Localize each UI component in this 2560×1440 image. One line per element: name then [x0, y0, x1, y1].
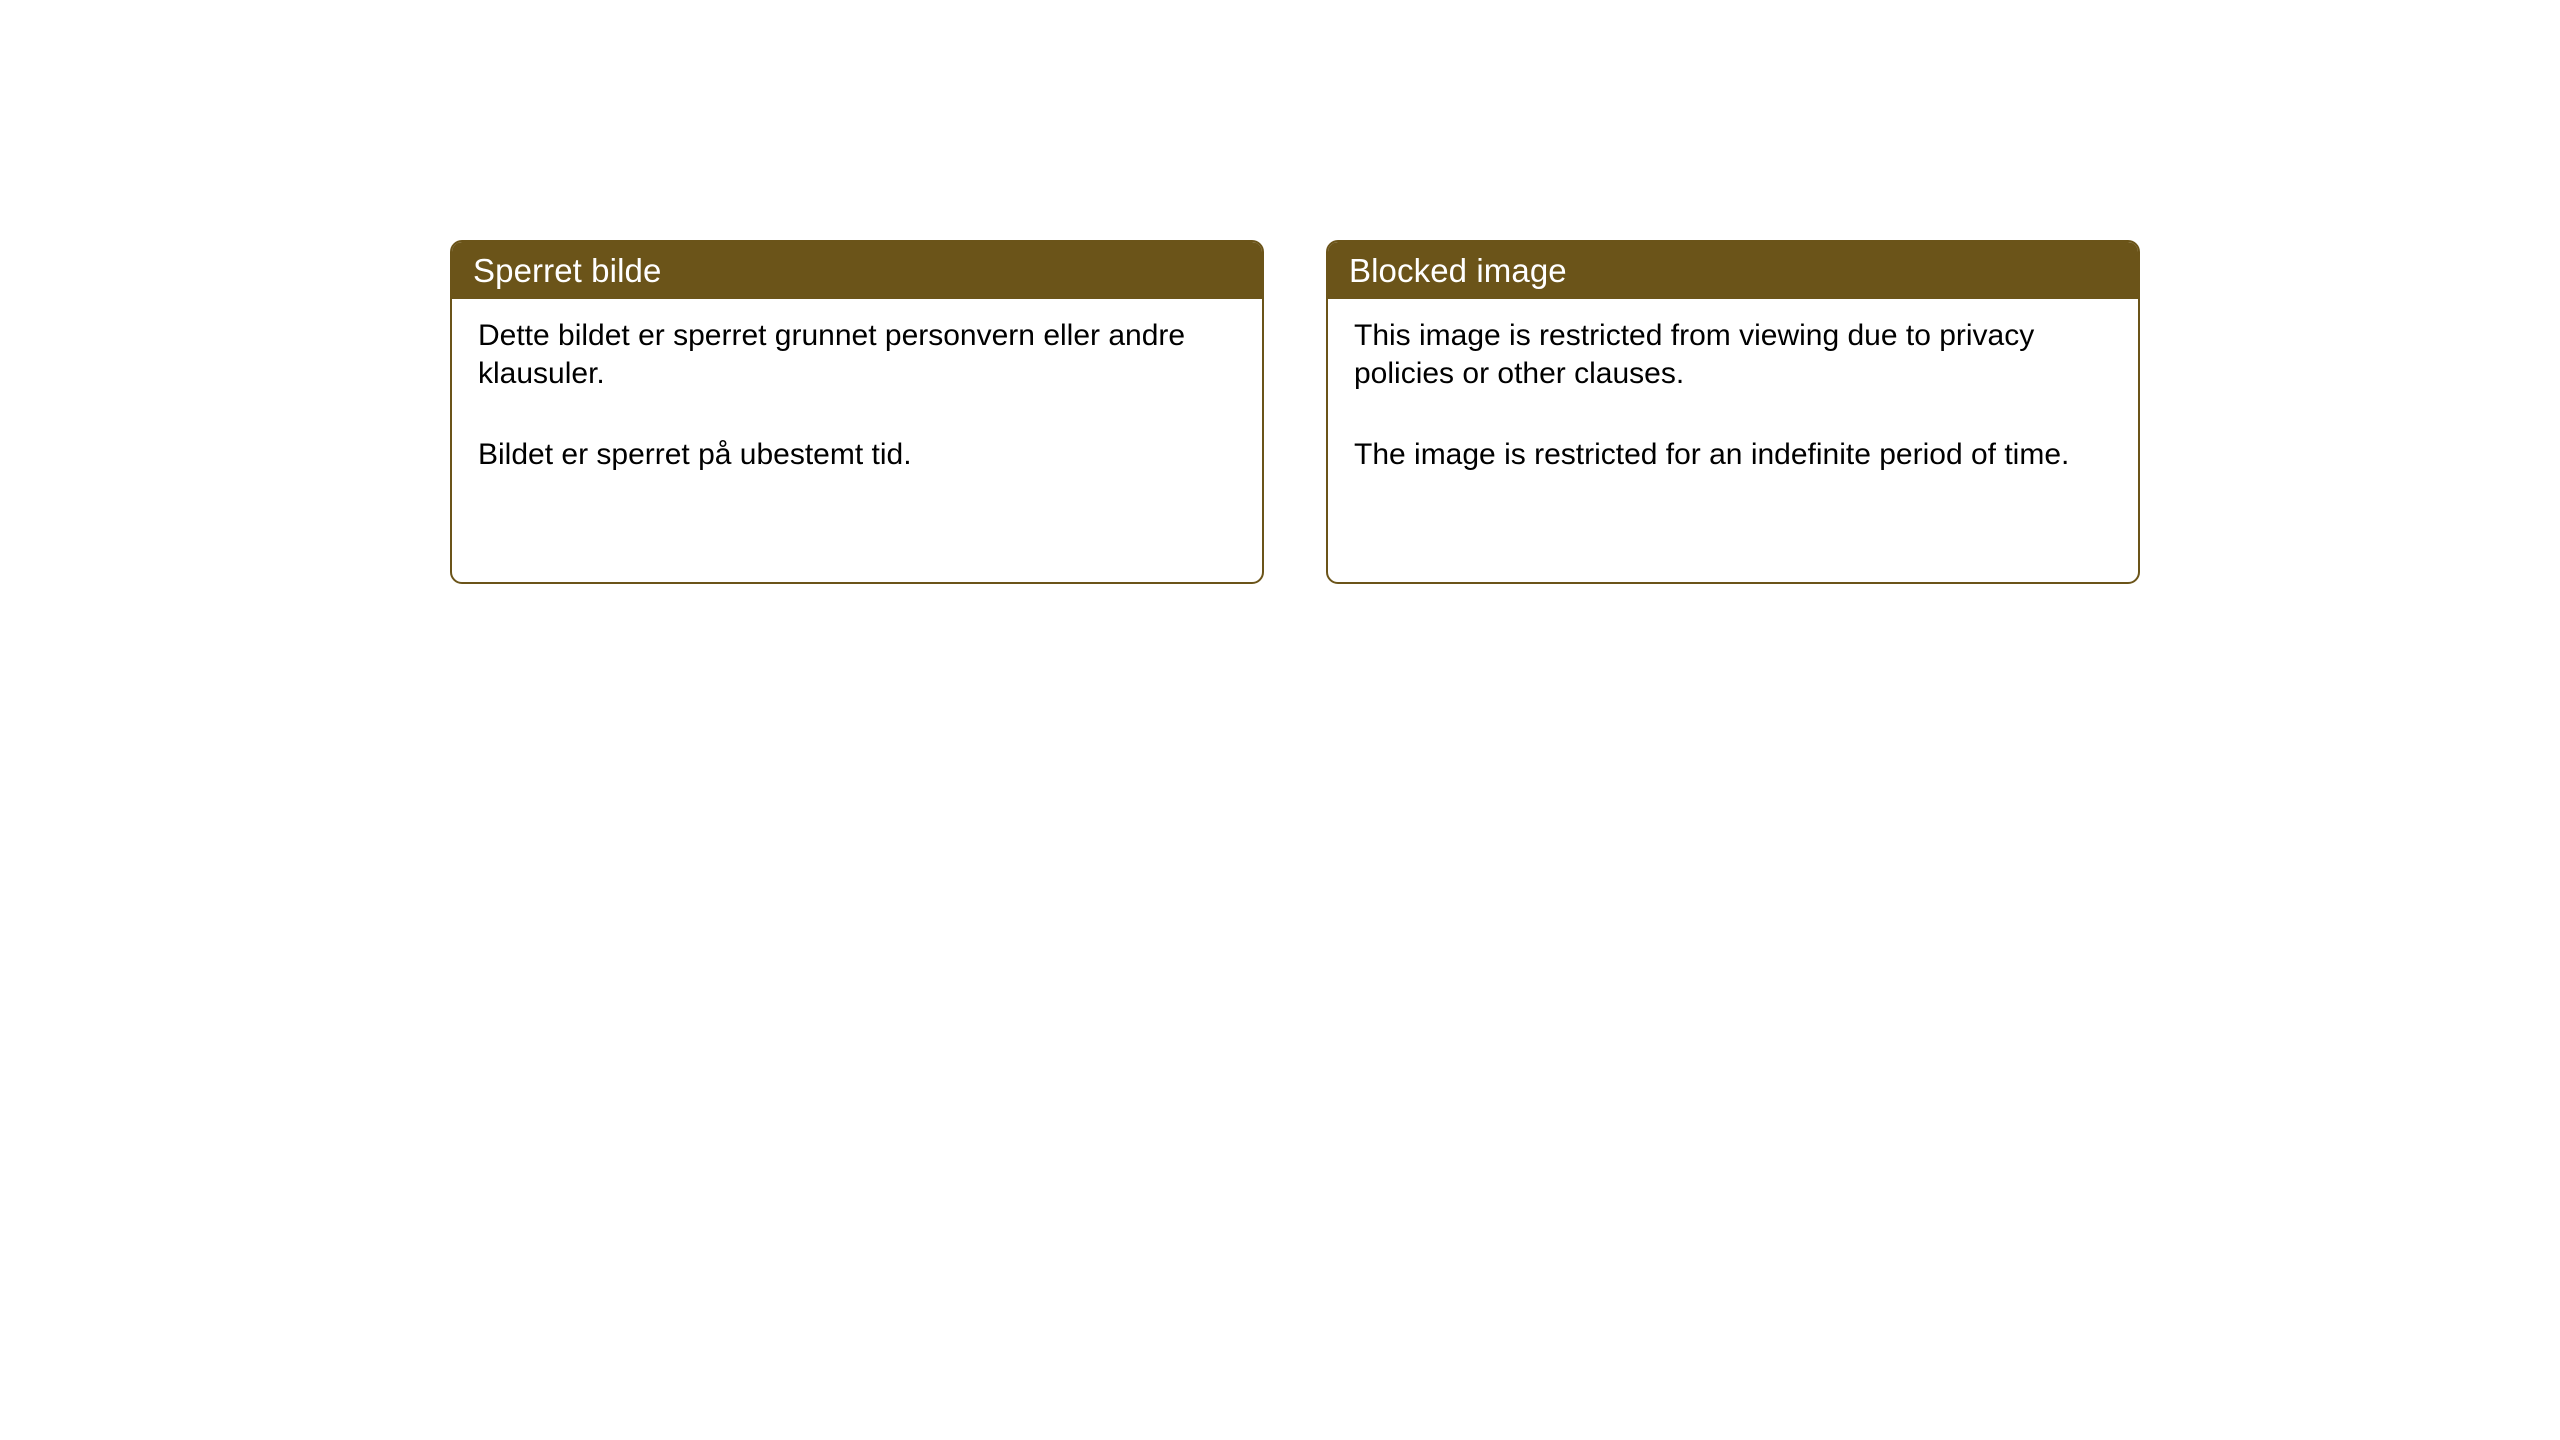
card-paragraph-english-2: The image is restricted for an indefinit…: [1354, 436, 2112, 474]
card-body-english: This image is restricted from viewing du…: [1328, 299, 2138, 582]
card-title-norwegian: Sperret bilde: [473, 254, 661, 287]
card-paragraph-norwegian-1: Dette bildet er sperret grunnet personve…: [478, 317, 1236, 393]
card-title-english: Blocked image: [1349, 254, 1567, 287]
card-header-english: Blocked image: [1327, 241, 2139, 299]
card-paragraph-norwegian-2: Bildet er sperret på ubestemt tid.: [478, 436, 1236, 474]
card-body-norwegian: Dette bildet er sperret grunnet personve…: [452, 299, 1262, 582]
card-paragraph-english-1: This image is restricted from viewing du…: [1354, 317, 2112, 393]
blocked-image-notice-area: Sperret bilde Dette bildet er sperret gr…: [450, 240, 2140, 584]
card-header-norwegian: Sperret bilde: [451, 241, 1263, 299]
blocked-image-card-norwegian: Sperret bilde Dette bildet er sperret gr…: [450, 240, 1264, 584]
blocked-image-card-english: Blocked image This image is restricted f…: [1326, 240, 2140, 584]
